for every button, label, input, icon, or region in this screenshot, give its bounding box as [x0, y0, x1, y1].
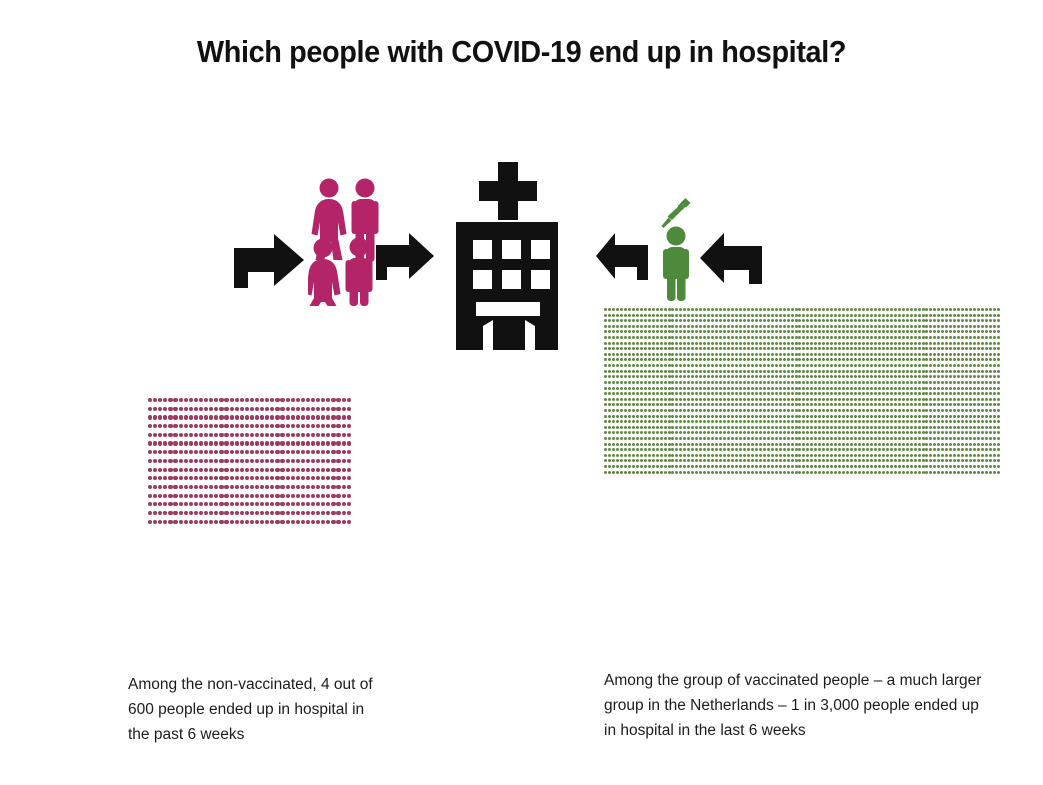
person-dot [981, 454, 984, 457]
person-dot [759, 319, 762, 322]
person-dot [767, 437, 770, 440]
person-dot [870, 319, 873, 322]
person-dot [620, 398, 623, 401]
person-dot [660, 465, 663, 468]
person-dot [965, 325, 968, 328]
person-dot [331, 441, 335, 445]
person-dot [957, 459, 960, 462]
person-dot [148, 476, 152, 480]
person-dot [331, 468, 335, 472]
person-dot [783, 459, 786, 462]
person-dot [620, 403, 623, 406]
person-dot [747, 308, 750, 311]
person-dot [957, 308, 960, 311]
person-dot [640, 454, 643, 457]
person-dot [929, 420, 932, 423]
person-dot [691, 420, 694, 423]
person-dot [763, 370, 766, 373]
person-dot [608, 325, 611, 328]
person-dot [719, 314, 722, 317]
person-dot [791, 426, 794, 429]
person-dot [767, 358, 770, 361]
person-dot [240, 468, 244, 472]
person-dot [783, 364, 786, 367]
person-dot [882, 471, 885, 474]
person-dot [687, 448, 690, 451]
person-dot [636, 375, 639, 378]
person-dot [668, 403, 671, 406]
person-dot [755, 325, 758, 328]
person-dot [834, 409, 837, 412]
person-dot [644, 415, 647, 418]
person-dot [882, 443, 885, 446]
person-dot [791, 342, 794, 345]
person-dot [953, 420, 956, 423]
person-dot [671, 426, 674, 429]
person-dot [683, 437, 686, 440]
person-dot [779, 381, 782, 384]
person-dot [973, 392, 976, 395]
person-dot [961, 347, 964, 350]
person-dot [834, 319, 837, 322]
person-dot [922, 403, 925, 406]
person-dot [660, 409, 663, 412]
person-dot [989, 471, 992, 474]
person-dot [894, 347, 897, 350]
person-dot [671, 415, 674, 418]
person-dot [691, 398, 694, 401]
person-dot [854, 465, 857, 468]
person-dot [179, 433, 183, 437]
person-dot [727, 409, 730, 412]
person-dot [703, 459, 706, 462]
person-dot [336, 494, 340, 498]
person-dot [826, 426, 829, 429]
person-dot [910, 342, 913, 345]
person-dot [890, 415, 893, 418]
person-dot [620, 381, 623, 384]
person-dot [743, 465, 746, 468]
person-dot [199, 476, 203, 480]
person-dot [906, 370, 909, 373]
person-dot [640, 403, 643, 406]
person-dot [818, 437, 821, 440]
person-dot [743, 471, 746, 474]
person-dot [316, 520, 320, 524]
person-dot [715, 375, 718, 378]
person-dot [656, 375, 659, 378]
person-dot [894, 415, 897, 418]
person-dot [894, 426, 897, 429]
person-dot [787, 336, 790, 339]
person-dot [902, 420, 905, 423]
person-dot [660, 364, 663, 367]
person-dot [838, 336, 841, 339]
person-dot [850, 443, 853, 446]
person-dot [878, 459, 881, 462]
person-dot [311, 398, 315, 402]
person-dot [894, 403, 897, 406]
person-dot [640, 398, 643, 401]
person-dot [640, 353, 643, 356]
person-dot [245, 415, 249, 419]
person-dot [993, 409, 996, 412]
person-dot [973, 426, 976, 429]
person-dot [775, 465, 778, 468]
person-dot [296, 459, 300, 463]
person-dot [168, 398, 172, 402]
person-dot [739, 342, 742, 345]
person-dot [163, 485, 167, 489]
person-dot [660, 471, 663, 474]
person-dot [342, 511, 346, 515]
person-dot [671, 465, 674, 468]
person-dot [890, 392, 893, 395]
person-dot [219, 502, 223, 506]
person-dot [791, 325, 794, 328]
person-dot [890, 319, 893, 322]
person-dot [906, 325, 909, 328]
person-dot [608, 353, 611, 356]
person-dot [306, 424, 310, 428]
person-dot [687, 319, 690, 322]
person-dot [747, 336, 750, 339]
person-dot [826, 437, 829, 440]
person-dot [687, 403, 690, 406]
person-dot [668, 443, 671, 446]
person-dot [846, 459, 849, 462]
unvaccinated-dot-grid [148, 398, 352, 528]
person-dot [306, 415, 310, 419]
person-dot [802, 330, 805, 333]
person-dot [965, 426, 968, 429]
person-dot [163, 415, 167, 419]
person-dot [219, 424, 223, 428]
person-dot [168, 494, 172, 498]
person-dot [707, 443, 710, 446]
person-dot [862, 459, 865, 462]
person-dot [612, 448, 615, 451]
person-dot [763, 330, 766, 333]
person-dot [890, 364, 893, 367]
person-dot [894, 330, 897, 333]
person-dot [250, 415, 254, 419]
person-dot [922, 364, 925, 367]
person-dot [965, 392, 968, 395]
person-dot [727, 353, 730, 356]
person-dot [791, 336, 794, 339]
person-dot [918, 375, 921, 378]
person-dot [981, 448, 984, 451]
person-dot [862, 364, 865, 367]
person-dot [850, 358, 853, 361]
person-dot [739, 403, 742, 406]
person-dot [969, 364, 972, 367]
person-dot [209, 494, 213, 498]
person-dot [691, 370, 694, 373]
person-dot [616, 308, 619, 311]
person-dot [802, 392, 805, 395]
person-dot [707, 454, 710, 457]
person-dot [735, 420, 738, 423]
person-dot [656, 319, 659, 322]
person-dot [679, 403, 682, 406]
person-dot [608, 387, 611, 390]
person-dot [977, 314, 980, 317]
person-dot [747, 314, 750, 317]
person-dot [981, 370, 984, 373]
person-dot [834, 336, 837, 339]
person-dot [699, 381, 702, 384]
person-dot [679, 392, 682, 395]
person-dot [894, 325, 897, 328]
person-dot [898, 370, 901, 373]
person-dot [933, 347, 936, 350]
person-dot [735, 308, 738, 311]
person-dot [818, 347, 821, 350]
person-dot [933, 403, 936, 406]
person-dot [810, 319, 813, 322]
person-dot [219, 511, 223, 515]
person-dot [977, 426, 980, 429]
person-dot [937, 471, 940, 474]
person-dot [291, 398, 295, 402]
person-dot [301, 520, 305, 524]
person-dot [957, 465, 960, 468]
person-dot [723, 358, 726, 361]
person-dot [894, 358, 897, 361]
person-dot [906, 443, 909, 446]
person-dot [838, 381, 841, 384]
person-dot [612, 398, 615, 401]
person-dot [671, 437, 674, 440]
person-dot [981, 437, 984, 440]
person-dot [973, 375, 976, 378]
person-dot [209, 441, 213, 445]
person-dot [866, 325, 869, 328]
person-dot [640, 364, 643, 367]
person-dot [691, 330, 694, 333]
person-dot [993, 308, 996, 311]
person-dot [798, 319, 801, 322]
person-dot [878, 375, 881, 378]
person-dot [691, 381, 694, 384]
person-dot [830, 353, 833, 356]
person-dot [624, 403, 627, 406]
person-dot [224, 485, 228, 489]
person-dot [747, 342, 750, 345]
person-dot [604, 426, 607, 429]
person-dot [723, 308, 726, 311]
person-dot [707, 336, 710, 339]
person-dot [291, 424, 295, 428]
unvaccinated-caption: Among the non-vaccinated, 4 out of 600 p… [128, 672, 378, 747]
person-dot [953, 358, 956, 361]
person-dot [326, 520, 330, 524]
person-dot [910, 308, 913, 311]
person-dot [767, 347, 770, 350]
person-dot [275, 415, 279, 419]
person-dot [679, 325, 682, 328]
person-dot [802, 409, 805, 412]
person-dot [671, 358, 674, 361]
person-dot [608, 443, 611, 446]
person-dot [189, 398, 193, 402]
person-dot [826, 364, 829, 367]
person-dot [173, 494, 177, 498]
person-dot [949, 471, 952, 474]
person-dot [719, 465, 722, 468]
person-dot [260, 424, 264, 428]
person-dot [941, 314, 944, 317]
person-dot [652, 375, 655, 378]
person-dot [886, 358, 889, 361]
person-dot [735, 459, 738, 462]
person-dot [858, 409, 861, 412]
person-dot [168, 502, 172, 506]
person-dot [703, 375, 706, 378]
person-dot [675, 409, 678, 412]
person-dot [810, 409, 813, 412]
person-dot [886, 448, 889, 451]
person-dot [838, 398, 841, 401]
person-dot [838, 448, 841, 451]
person-dot [878, 443, 881, 446]
person-dot [735, 443, 738, 446]
person-dot [656, 342, 659, 345]
person-dot [158, 502, 162, 506]
person-dot [727, 392, 730, 395]
person-dot [791, 415, 794, 418]
person-dot [326, 441, 330, 445]
person-dot [767, 330, 770, 333]
person-dot [723, 459, 726, 462]
person-dot [755, 420, 758, 423]
person-dot [894, 465, 897, 468]
person-dot [759, 392, 762, 395]
person-dot [636, 459, 639, 462]
person-dot [719, 443, 722, 446]
person-dot [795, 403, 798, 406]
person-dot [806, 415, 809, 418]
person-dot [660, 347, 663, 350]
person-dot [644, 398, 647, 401]
person-dot [664, 398, 667, 401]
person-dot [675, 325, 678, 328]
person-dot [168, 485, 172, 489]
person-dot [628, 420, 631, 423]
person-dot [620, 325, 623, 328]
person-dot [810, 448, 813, 451]
person-dot [747, 319, 750, 322]
person-dot [890, 409, 893, 412]
person-dot [894, 459, 897, 462]
person-dot [735, 426, 738, 429]
person-dot [296, 468, 300, 472]
person-dot [632, 353, 635, 356]
person-dot [743, 448, 746, 451]
person-dot [969, 330, 972, 333]
person-dot [981, 319, 984, 322]
person-dot [933, 370, 936, 373]
person-dot [826, 431, 829, 434]
person-dot [985, 381, 988, 384]
person-dot [711, 370, 714, 373]
person-dot [652, 409, 655, 412]
person-dot [842, 358, 845, 361]
person-dot [894, 336, 897, 339]
person-dot [937, 403, 940, 406]
person-dot [759, 325, 762, 328]
person-dot [735, 370, 738, 373]
person-dot [787, 409, 790, 412]
person-dot [763, 325, 766, 328]
person-dot [874, 387, 877, 390]
person-dot [711, 342, 714, 345]
person-dot [687, 471, 690, 474]
person-dot [969, 387, 972, 390]
person-dot [604, 314, 607, 317]
person-dot [715, 471, 718, 474]
person-dot [838, 353, 841, 356]
person-dot [767, 454, 770, 457]
person-dot [822, 431, 825, 434]
person-dot [648, 454, 651, 457]
person-dot [751, 347, 754, 350]
person-dot [695, 426, 698, 429]
person-dot [219, 415, 223, 419]
person-dot [715, 437, 718, 440]
person-dot [798, 465, 801, 468]
person-dot [937, 387, 940, 390]
person-dot [194, 398, 198, 402]
person-dot [918, 319, 921, 322]
person-dot [604, 403, 607, 406]
person-dot [691, 342, 694, 345]
person-dot [862, 353, 865, 356]
person-dot [810, 347, 813, 350]
person-dot [993, 347, 996, 350]
person-dot [997, 375, 1000, 378]
person-dot [620, 375, 623, 378]
person-dot [751, 465, 754, 468]
person-dot [890, 454, 893, 457]
person-dot [624, 353, 627, 356]
person-dot [759, 353, 762, 356]
person-dot [818, 454, 821, 457]
person-dot [296, 398, 300, 402]
person-dot [671, 336, 674, 339]
person-dot [604, 308, 607, 311]
person-dot [981, 347, 984, 350]
person-dot [347, 450, 351, 454]
person-dot [675, 353, 678, 356]
person-dot [683, 465, 686, 468]
person-dot [826, 325, 829, 328]
person-dot [695, 415, 698, 418]
person-dot [636, 336, 639, 339]
person-dot [798, 420, 801, 423]
person-dot [818, 459, 821, 462]
person-dot [922, 471, 925, 474]
person-dot [199, 415, 203, 419]
person-dot [715, 370, 718, 373]
person-dot [779, 471, 782, 474]
person-dot [707, 426, 710, 429]
person-dot [902, 319, 905, 322]
person-dot [695, 342, 698, 345]
person-dot [326, 450, 330, 454]
